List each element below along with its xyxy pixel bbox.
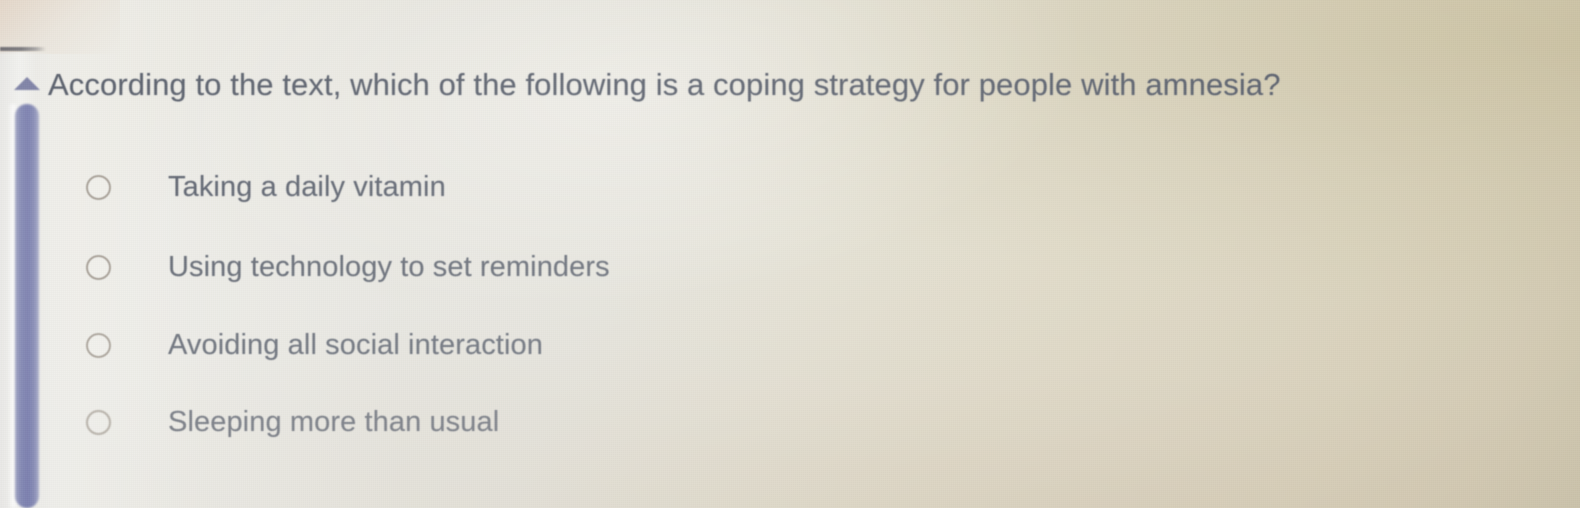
option-label-1: Using technology to set reminders: [168, 250, 610, 284]
option-row-3[interactable]: Sleeping more than usual: [86, 400, 499, 444]
option-label-2: Avoiding all social interaction: [168, 328, 543, 362]
radio-button-3[interactable]: [86, 410, 111, 435]
option-row-1[interactable]: Using technology to set reminders: [86, 245, 610, 289]
option-row-0[interactable]: Taking a daily vitamin: [86, 165, 446, 209]
quiz-screen: According to the text, which of the foll…: [0, 0, 1580, 508]
option-label-3: Sleeping more than usual: [168, 405, 499, 439]
question-text: According to the text, which of the foll…: [48, 66, 1568, 104]
radio-button-0[interactable]: [86, 175, 111, 200]
quiz-content: According to the text, which of the foll…: [0, 0, 1580, 508]
radio-button-2[interactable]: [86, 333, 111, 358]
radio-button-1[interactable]: [86, 255, 111, 280]
option-label-0: Taking a daily vitamin: [168, 170, 446, 204]
option-row-2[interactable]: Avoiding all social interaction: [86, 323, 543, 367]
